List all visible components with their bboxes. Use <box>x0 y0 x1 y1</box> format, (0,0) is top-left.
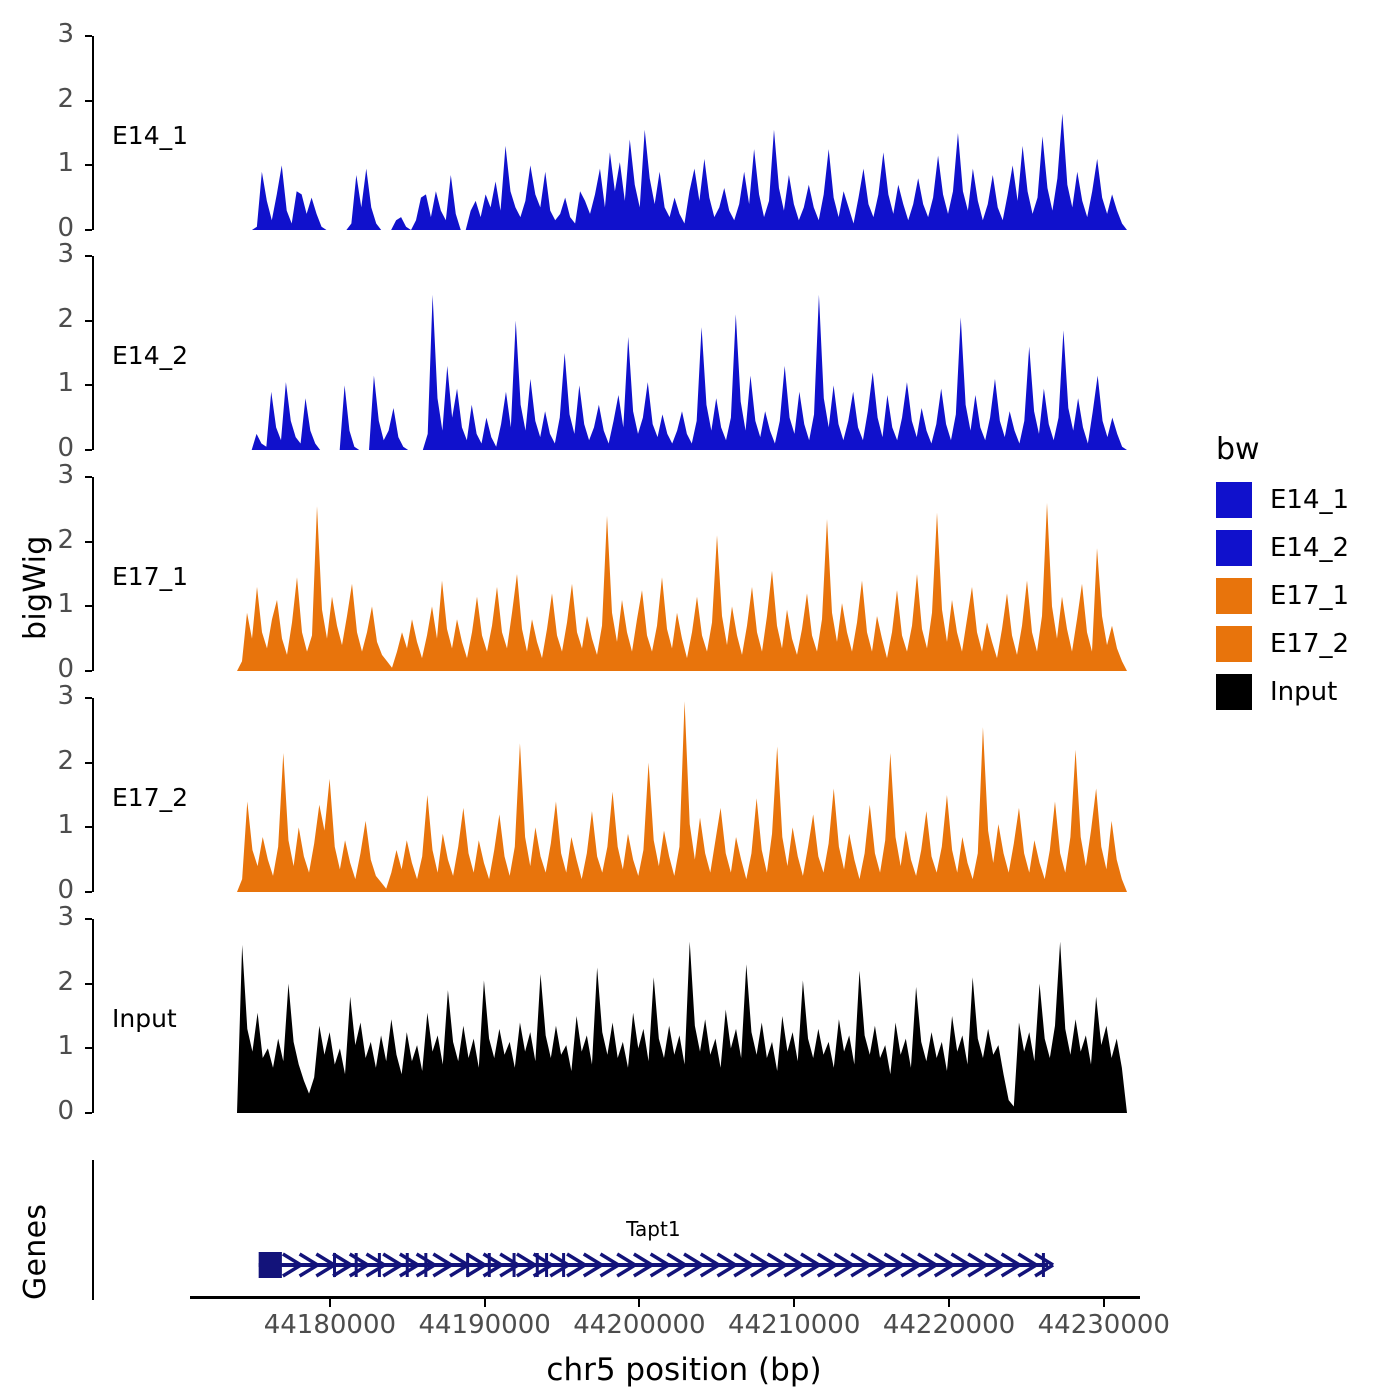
y-tick <box>85 35 92 37</box>
coverage-area-e17_2 <box>237 698 1127 892</box>
y-tick-label: 2 <box>34 84 74 114</box>
legend: bw E14_1E14_2E17_1E17_2Input <box>1216 432 1396 682</box>
y-tick-label: 1 <box>34 1031 74 1061</box>
y-tick <box>85 100 92 102</box>
x-tick <box>484 1299 486 1307</box>
x-axis-line <box>190 1296 1140 1299</box>
y-axis-line <box>92 698 94 892</box>
y-tick-label: 3 <box>34 239 74 269</box>
coverage-area-e14_2 <box>237 256 1127 450</box>
y-tick <box>85 605 92 607</box>
y-tick <box>85 320 92 322</box>
y-tick-label: 2 <box>34 967 74 997</box>
x-tick-label: 44220000 <box>883 1310 1015 1340</box>
x-tick-label: 44230000 <box>1038 1310 1170 1340</box>
legend-item-e17_2[interactable]: E17_2 <box>1216 626 1349 662</box>
x-tick <box>1103 1299 1105 1307</box>
legend-title: bw <box>1216 432 1260 467</box>
bigwig-panel-e14_1: 0123E14_1 <box>0 30 1160 236</box>
y-tick <box>85 164 92 166</box>
legend-swatch <box>1216 482 1252 518</box>
x-tick <box>638 1299 640 1307</box>
y-tick-label: 3 <box>34 460 74 490</box>
y-tick-label: 0 <box>34 1096 74 1126</box>
y-tick-label: 2 <box>34 304 74 334</box>
genes-panel: Tapt1 <box>0 1155 1160 1300</box>
x-tick-label: 44190000 <box>418 1310 550 1340</box>
y-axis-line <box>92 477 94 671</box>
x-tick <box>793 1299 795 1307</box>
y-tick-label: 3 <box>34 681 74 711</box>
legend-item-e14_1[interactable]: E14_1 <box>1216 482 1349 518</box>
y-tick-label: 0 <box>34 875 74 905</box>
x-axis-title: chr5 position (bp) <box>546 1352 821 1388</box>
y-tick <box>85 697 92 699</box>
bigwig-panel-e17_2: 0123E17_2 <box>0 692 1160 898</box>
y-tick <box>85 1112 92 1114</box>
genes-axis-line <box>92 1160 94 1300</box>
x-axis: 4418000044190000442000004421000044220000… <box>0 1296 1400 1400</box>
y-tick-label: 1 <box>34 368 74 398</box>
y-tick <box>85 826 92 828</box>
x-tick-label: 44210000 <box>728 1310 860 1340</box>
gene-model-svg <box>237 1155 1137 1300</box>
y-tick-label: 3 <box>34 902 74 932</box>
y-tick-label: 0 <box>34 433 74 463</box>
y-tick <box>85 255 92 257</box>
track-label-e14_2: E14_2 <box>112 341 188 370</box>
gene-layer: Tapt1 <box>237 1155 1127 1300</box>
bigwig-panel-e17_1: 0123E17_1 <box>0 471 1160 677</box>
y-axis-line <box>92 256 94 450</box>
y-tick <box>85 476 92 478</box>
legend-swatch <box>1216 578 1252 614</box>
y-tick <box>85 891 92 893</box>
y-axis-line <box>92 36 94 230</box>
legend-swatch <box>1216 530 1252 566</box>
x-tick <box>329 1299 331 1307</box>
track-label-e17_2: E17_2 <box>112 783 188 812</box>
x-tick-label: 44180000 <box>264 1310 396 1340</box>
y-tick <box>85 229 92 231</box>
y-tick-label: 1 <box>34 810 74 840</box>
x-tick <box>948 1299 950 1307</box>
y-tick <box>85 384 92 386</box>
x-tick-label: 44200000 <box>573 1310 705 1340</box>
y-tick <box>85 762 92 764</box>
y-tick-label: 1 <box>34 148 74 178</box>
y-tick-label: 1 <box>34 589 74 619</box>
coverage-plot-figure: bigWig Genes 0123E14_10123E14_20123E17_1… <box>0 0 1400 1400</box>
legend-item-e14_2[interactable]: E14_2 <box>1216 530 1349 566</box>
y-tick-label: 0 <box>34 654 74 684</box>
bigwig-panel-input: 0123Input <box>0 913 1160 1119</box>
coverage-area-e17_1 <box>237 477 1127 671</box>
legend-label: E17_1 <box>1270 581 1349 611</box>
gene-name-label: Tapt1 <box>626 1217 680 1241</box>
coverage-area-e14_1 <box>237 36 1127 230</box>
track-label-e14_1: E14_1 <box>112 121 188 150</box>
legend-label: E17_2 <box>1270 629 1349 659</box>
legend-label: E14_2 <box>1270 533 1349 563</box>
y-tick-label: 2 <box>34 525 74 555</box>
legend-label: Input <box>1270 677 1337 707</box>
y-tick <box>85 918 92 920</box>
coverage-area-input <box>237 919 1127 1113</box>
y-axis-line <box>92 919 94 1113</box>
y-tick-label: 2 <box>34 746 74 776</box>
y-tick <box>85 983 92 985</box>
legend-label: E14_1 <box>1270 485 1349 515</box>
legend-swatch <box>1216 674 1252 710</box>
legend-item-input[interactable]: Input <box>1216 674 1337 710</box>
y-tick <box>85 670 92 672</box>
legend-item-e17_1[interactable]: E17_1 <box>1216 578 1349 614</box>
bigwig-panel-e14_2: 0123E14_2 <box>0 250 1160 456</box>
y-tick <box>85 541 92 543</box>
y-tick <box>85 449 92 451</box>
track-label-e17_1: E17_1 <box>112 562 188 591</box>
legend-swatch <box>1216 626 1252 662</box>
y-tick <box>85 1047 92 1049</box>
y-tick-label: 3 <box>34 19 74 49</box>
track-label-input: Input <box>112 1004 177 1033</box>
